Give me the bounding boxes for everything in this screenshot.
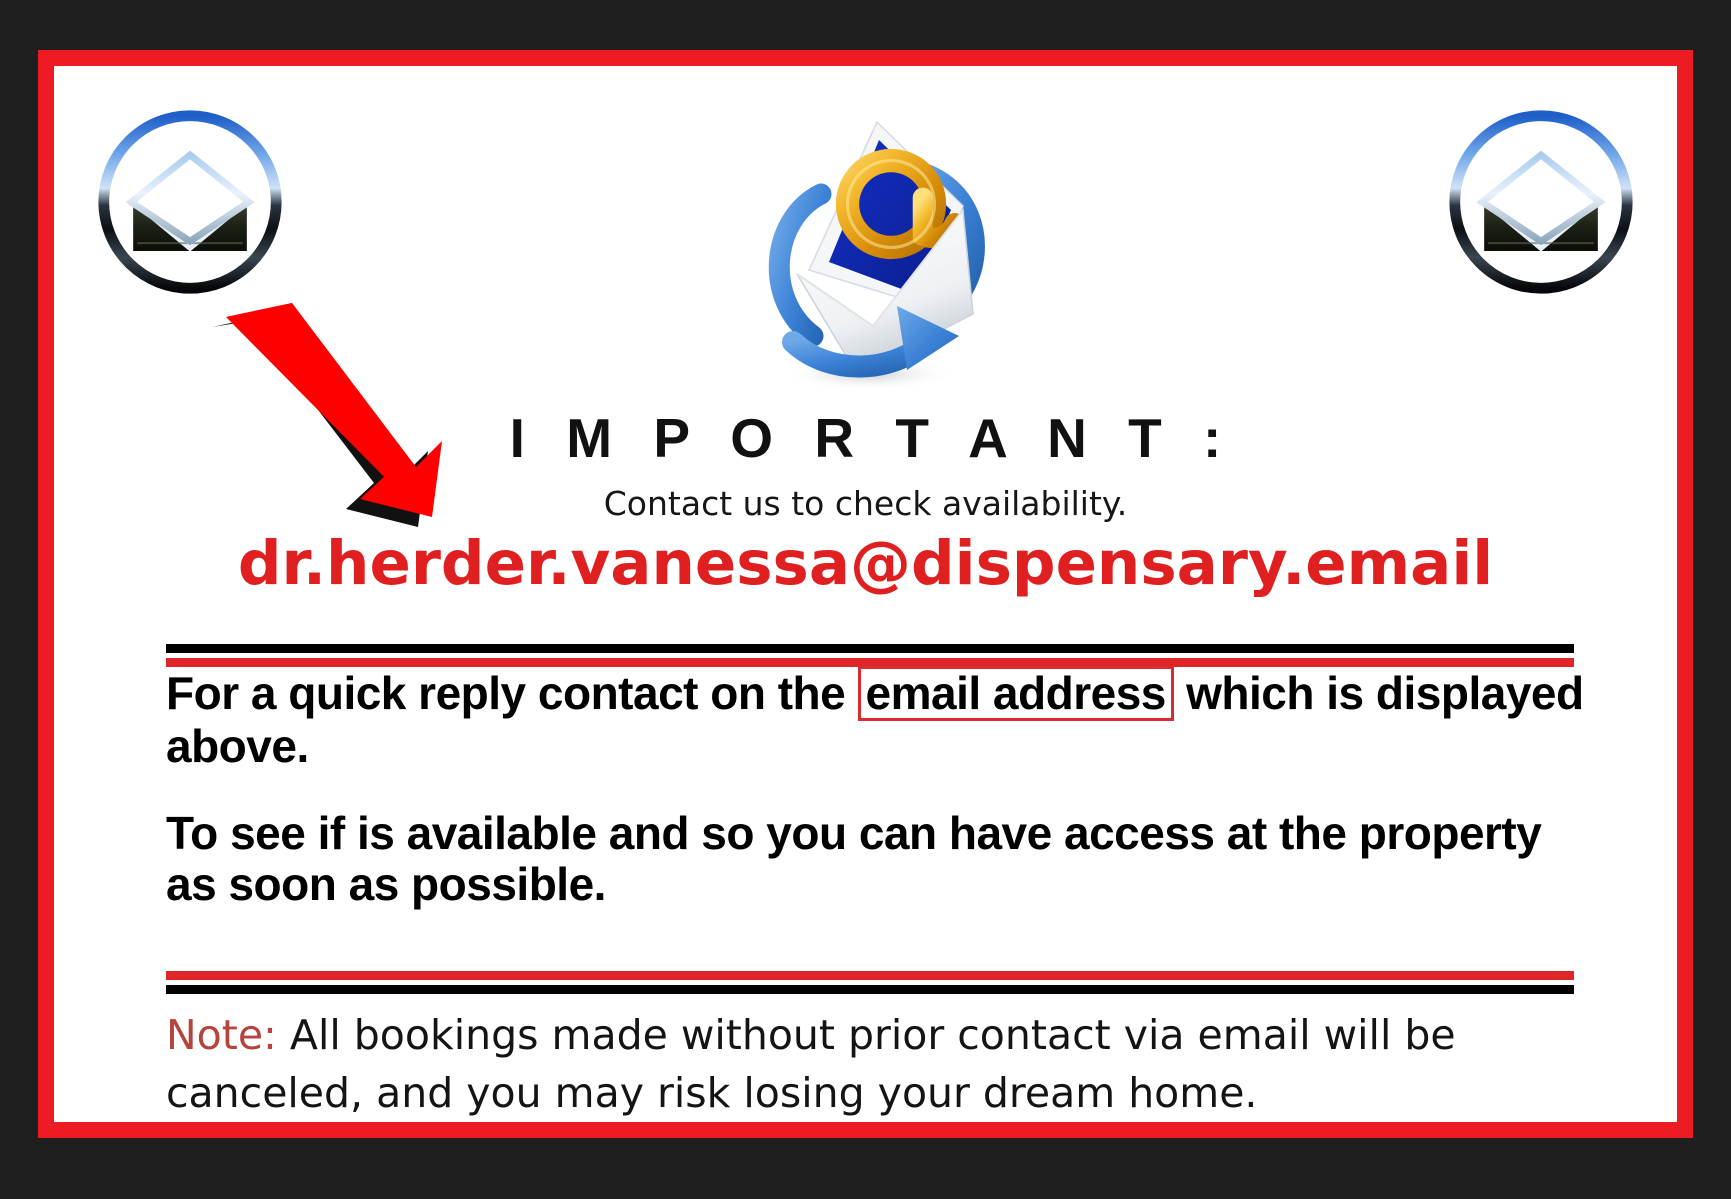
divider-bar-black [166, 644, 1574, 653]
divider-bar-black [166, 985, 1574, 994]
divider-bar-red [166, 971, 1574, 980]
note-text: All bookings made without prior contact … [166, 1011, 1456, 1117]
envelope-badge-icon-left [92, 104, 288, 300]
poster-card: I M P O R T A N T : Contact us to check … [54, 66, 1677, 1122]
instruction-paragraph-two: To see if is available and so you can ha… [166, 808, 1586, 910]
divider-bottom [166, 971, 1574, 994]
note-block: Note: All bookings made without prior co… [166, 1006, 1596, 1122]
availability-subtitle: Contact us to check availability. [54, 484, 1677, 523]
note-label: Note: [166, 1011, 277, 1059]
email-address-highlight: email address [858, 666, 1174, 721]
page-title: I M P O R T A N T : [54, 406, 1677, 470]
divider-top [166, 644, 1574, 667]
poster-frame: I M P O R T A N T : Contact us to check … [38, 50, 1693, 1138]
contact-email-address[interactable]: dr.herder.vanessa@dispensary.email [54, 528, 1677, 599]
instruction-paragraph-one: For a quick reply contact on the email a… [166, 666, 1586, 772]
paragraph-one-before: For a quick reply contact on the [166, 667, 858, 719]
envelope-badge-icon-right [1443, 104, 1639, 300]
at-symbol-envelope-icon [701, 74, 1031, 404]
